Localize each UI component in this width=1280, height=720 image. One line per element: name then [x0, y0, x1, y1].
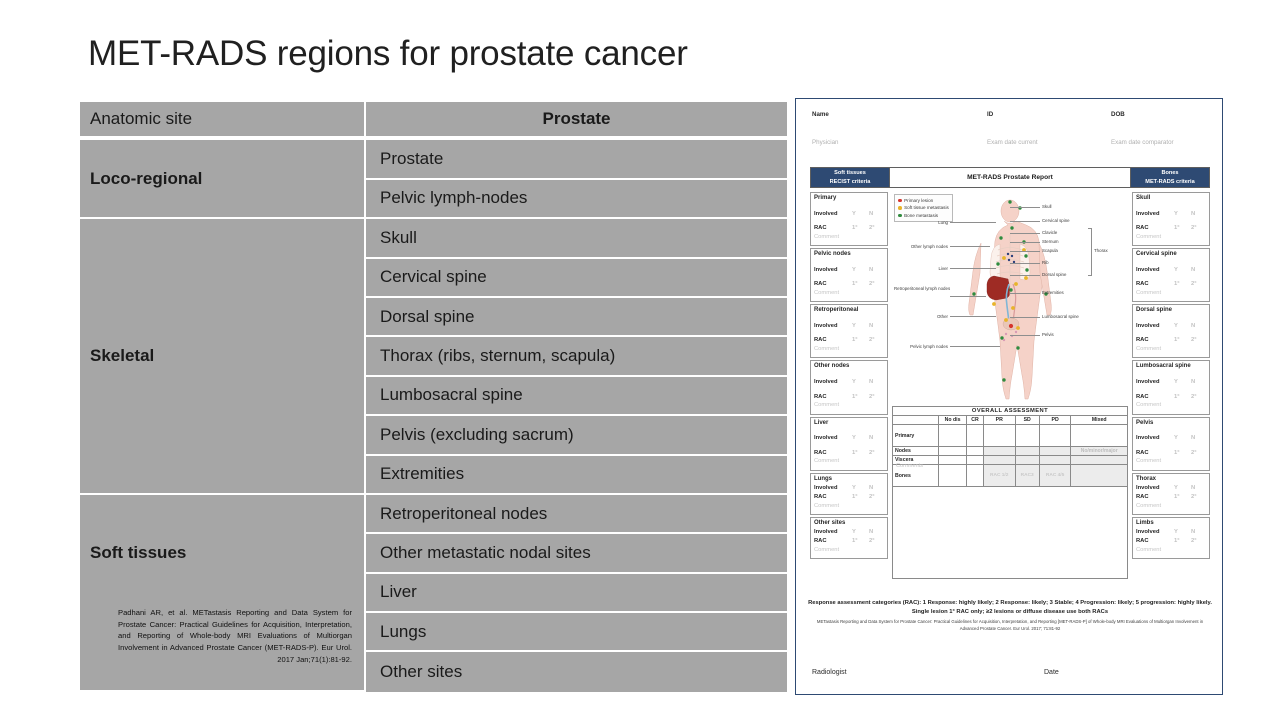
rac-label: RAC	[1136, 393, 1174, 402]
rac-primary-option[interactable]: 1°	[1174, 224, 1191, 233]
legend-item: Bone metastasis	[898, 212, 949, 219]
rac-secondary-option[interactable]: 2°	[869, 336, 875, 345]
report-banner: Soft tissues RECIST criteria MET-RADS Pr…	[810, 167, 1210, 188]
banner-title: MET-RADS Prostate Report	[889, 168, 1131, 187]
leader-line	[950, 296, 986, 297]
met-rads-prostate-report-form[interactable]: Name ID DOB Physician Exam date current …	[795, 98, 1223, 695]
legend-item: Soft tissue metastasis	[898, 204, 949, 211]
rac-label: RAC	[814, 537, 852, 546]
rac-secondary-option[interactable]: 2°	[869, 224, 875, 233]
site-cell: Other metastatic nodal sites	[366, 534, 787, 573]
involved-row[interactable]: InvolvedYN	[1136, 484, 1206, 493]
organ-block-pelvic-nodes[interactable]: Pelvic nodesInvolvedYNRAC1°2°Comment	[810, 248, 888, 302]
rac-secondary-option[interactable]: 2°	[1191, 336, 1197, 345]
organ-block-other-sites[interactable]: Other sitesInvolvedYNRAC1°2°Comment	[810, 517, 888, 559]
involved-yes-option[interactable]: Y	[1174, 210, 1191, 219]
site-cell: Pelvic lymph-nodes	[366, 180, 787, 219]
organ-comment-field[interactable]: Comment	[814, 502, 884, 511]
leader-line	[1010, 335, 1040, 336]
cell-primary-sd[interactable]	[1015, 425, 1039, 447]
figure-label-clavicle: Clavicle	[1042, 230, 1057, 235]
rac-label: RAC	[814, 493, 852, 502]
cell-primary-mixed[interactable]	[1071, 425, 1128, 447]
legend-dot-icon	[898, 199, 902, 203]
rac-primary-option[interactable]: 1°	[1174, 280, 1191, 289]
involved-row[interactable]: InvolvedYN	[814, 528, 884, 537]
figure-label-pelvic-lymph-nodes: Pelvic lymph nodes	[894, 344, 948, 349]
assessment-col-no-dis: No dis	[939, 416, 967, 425]
organ-block-primary[interactable]: PrimaryInvolvedYNRAC1°2°Comment	[810, 192, 888, 246]
radiologist-field-label[interactable]: Radiologist	[812, 669, 1044, 676]
organ-block-title: Cervical spine	[1136, 251, 1206, 259]
involved-yes-option[interactable]: Y	[852, 210, 869, 219]
assessment-row-nodes: Nodes	[893, 447, 939, 456]
organ-block-title: Liver	[814, 420, 884, 428]
rac-definition-text: Response assessment categories (RAC): 1 …	[808, 599, 1212, 616]
table-row: SkeletalSkull	[80, 219, 787, 258]
involved-label: Involved	[1136, 210, 1174, 219]
involved-row[interactable]: InvolvedYN	[1136, 528, 1206, 537]
rac-secondary-option[interactable]: 2°	[869, 280, 875, 289]
banner-bones-line1: Bones	[1161, 169, 1178, 177]
organ-comment-field[interactable]: Comment	[1136, 289, 1206, 298]
involved-no-option[interactable]: N	[1191, 210, 1195, 219]
leader-line	[1010, 263, 1040, 264]
organ-block-thorax[interactable]: ThoraxInvolvedYNRAC1°2°Comment	[1132, 473, 1210, 515]
organ-block-title: Pelvic nodes	[814, 251, 884, 259]
dob-field-label[interactable]: DOB	[1111, 111, 1206, 118]
site-cell: Extremities	[366, 456, 787, 495]
site-cell: Retroperitoneal nodes	[366, 495, 787, 534]
rac-primary-option[interactable]: 1°	[852, 336, 869, 345]
rac-label: RAC	[814, 449, 852, 458]
organ-block-title: Limbs	[1136, 520, 1206, 528]
rac-label: RAC	[1136, 449, 1174, 458]
bone-blocks-column: SkullInvolvedYNRAC1°2°CommentCervical sp…	[1132, 192, 1210, 561]
cell-primary-pr[interactable]	[983, 425, 1015, 447]
involved-row[interactable]: InvolvedYN	[1136, 322, 1206, 331]
cell-nodes-pd[interactable]	[1039, 447, 1071, 456]
involved-yes-option[interactable]: Y	[852, 378, 869, 387]
rac-row[interactable]: RAC1°2°	[1136, 537, 1206, 546]
group-cell-loco-regional: Loco-regional	[80, 140, 366, 219]
rac-label: RAC	[814, 280, 852, 289]
rac-row[interactable]: RAC1°2°	[1136, 493, 1206, 502]
rac-label: RAC	[1136, 224, 1174, 233]
involved-yes-option[interactable]: Y	[852, 322, 869, 331]
table-header-prostate: Prostate	[366, 102, 787, 140]
figure-label-retroperitoneal-lymph-nodes: Retroperitoneal lymph nodes	[894, 286, 948, 291]
rac-label: RAC	[814, 224, 852, 233]
involved-no-option[interactable]: N	[869, 378, 873, 387]
organ-block-title: Other sites	[814, 520, 884, 528]
legend-item: Primary lesion	[898, 197, 949, 204]
rac-primary-option[interactable]: 1°	[1174, 537, 1191, 546]
involved-label: Involved	[814, 484, 852, 493]
organ-block-title: Skull	[1136, 195, 1206, 203]
rac-secondary-option[interactable]: 2°	[1191, 493, 1197, 502]
organ-comment-field[interactable]: Comment	[814, 457, 884, 466]
involved-label: Involved	[1136, 378, 1174, 387]
cell-nodes-nodis[interactable]	[939, 447, 967, 456]
anatomy-diagram: Primary lesionSoft tissue metastasisBone…	[892, 192, 1128, 404]
involved-row[interactable]: InvolvedYN	[1136, 266, 1206, 275]
site-cell: Dorsal spine	[366, 298, 787, 337]
organ-block-other-nodes[interactable]: Other nodesInvolvedYNRAC1°2°Comment	[810, 360, 888, 414]
rac-row[interactable]: RAC1°2°	[1136, 449, 1206, 458]
involved-label: Involved	[1136, 322, 1174, 331]
figure-label-dorsal-spine: Dorsal spine	[1042, 272, 1066, 277]
rac-row[interactable]: RAC1°2°	[814, 537, 884, 546]
group-cell-soft-tissues: Soft tissuesPadhani AR, et al. METastasi…	[80, 495, 366, 692]
leader-line	[1010, 233, 1040, 234]
organ-block-title: Thorax	[1136, 476, 1206, 484]
organ-block-skull[interactable]: SkullInvolvedYNRAC1°2°Comment	[1132, 192, 1210, 246]
organ-block-lungs[interactable]: LungsInvolvedYNRAC1°2°Comment	[810, 473, 888, 515]
banner-bones: Bones MET-RADS criteria	[1131, 168, 1209, 187]
involved-row[interactable]: InvolvedYN	[1136, 378, 1206, 387]
involved-yes-option[interactable]: Y	[852, 528, 869, 537]
rac-row[interactable]: RAC1°2°	[814, 393, 884, 402]
involved-no-option[interactable]: N	[869, 528, 873, 537]
exam-date-comparator-label[interactable]: Exam date comparator	[1111, 139, 1206, 146]
site-cell: Thorax (ribs, sternum, scapula)	[366, 337, 787, 376]
leader-line	[950, 268, 996, 269]
leader-line	[950, 222, 996, 223]
thorax-bracket	[1088, 228, 1092, 276]
organ-comment-field[interactable]: Comment	[1136, 401, 1206, 410]
assessment-col-cr: CR	[967, 416, 984, 425]
rac-row[interactable]: RAC1°2°	[1136, 224, 1206, 233]
assessment-col-pr: PR	[983, 416, 1015, 425]
organ-comment-field[interactable]: Comment	[814, 546, 884, 555]
rac-row[interactable]: RAC1°2°	[814, 280, 884, 289]
reference-text: METastasis Reporting and Data System for…	[808, 619, 1212, 632]
rac-secondary-option[interactable]: 2°	[869, 449, 875, 458]
site-cell: Pelvis (excluding sacrum)	[366, 416, 787, 455]
rac-secondary-option[interactable]: 2°	[1191, 280, 1197, 289]
assessment-corner	[893, 416, 939, 425]
cell-nodes-mixed[interactable]: No/minor/major	[1071, 447, 1128, 456]
patient-info-row-primary: Name ID DOB	[796, 111, 1222, 118]
organ-block-lumbosacral-spine[interactable]: Lumbosacral spineInvolvedYNRAC1°2°Commen…	[1132, 360, 1210, 414]
site-cell: Liver	[366, 574, 787, 613]
rac-label: RAC	[1136, 336, 1174, 345]
site-cell: Prostate	[366, 140, 787, 179]
organ-block-limbs[interactable]: LimbsInvolvedYNRAC1°2°Comment	[1132, 517, 1210, 559]
page-title: MET-RADS regions for prostate cancer	[88, 34, 688, 74]
signature-row: Radiologist Date	[812, 669, 1208, 676]
assessment-col-pd: PD	[1039, 416, 1071, 425]
rac-row[interactable]: RAC1°2°	[814, 224, 884, 233]
rac-primary-option[interactable]: 1°	[852, 224, 869, 233]
rac-secondary-option[interactable]: 2°	[1191, 537, 1197, 546]
involved-label: Involved	[1136, 528, 1174, 537]
involved-label: Involved	[1136, 434, 1174, 443]
assessment-col-mixed: Mixed	[1071, 416, 1128, 425]
human-body-illustration	[954, 198, 1066, 402]
cell-primary-nodis[interactable]	[939, 425, 967, 447]
involved-yes-option[interactable]: Y	[1174, 266, 1191, 275]
citation-text: Padhani AR, et al. METastasis Reporting …	[90, 607, 354, 666]
organ-block-pelvis[interactable]: PelvisInvolvedYNRAC1°2°Comment	[1132, 417, 1210, 471]
anatomic-site-table: Anatomic siteProstateLoco-regionalProsta…	[80, 102, 787, 692]
rac-secondary-option[interactable]: 2°	[869, 493, 875, 502]
diagram-legend: Primary lesionSoft tissue metastasisBone…	[894, 194, 953, 222]
involved-label: Involved	[814, 378, 852, 387]
figure-label-cervical-spine: Cervical spine	[1042, 218, 1070, 223]
comments-field[interactable]: Comments	[892, 461, 1128, 579]
involved-no-option[interactable]: N	[869, 210, 873, 219]
leader-line	[1010, 242, 1040, 243]
site-cell: Cervical spine	[366, 259, 787, 298]
involved-no-option[interactable]: N	[1191, 322, 1195, 331]
organ-block-liver[interactable]: LiverInvolvedYNRAC1°2°Comment	[810, 417, 888, 471]
figure-label-pelvis: Pelvis	[1042, 332, 1054, 337]
rac-secondary-option[interactable]: 2°	[869, 393, 875, 402]
involved-label: Involved	[814, 434, 852, 443]
involved-no-option[interactable]: N	[869, 266, 873, 275]
leader-line	[1010, 207, 1040, 208]
leader-line	[950, 346, 1000, 347]
organ-block-title: Retroperitoneal	[814, 307, 884, 315]
figure-label-lung: Lung	[894, 220, 948, 225]
involved-row[interactable]: InvolvedYN	[814, 378, 884, 387]
organ-block-cervical-spine[interactable]: Cervical spineInvolvedYNRAC1°2°Comment	[1132, 248, 1210, 302]
organ-block-title: Pelvis	[1136, 420, 1206, 428]
soft-tissue-blocks-column: PrimaryInvolvedYNRAC1°2°CommentPelvic no…	[810, 192, 888, 561]
figure-label-thorax: Thorax	[1094, 248, 1108, 253]
involved-label: Involved	[814, 210, 852, 219]
leader-line	[950, 316, 996, 317]
organ-block-title: Dorsal spine	[1136, 307, 1206, 315]
involved-row[interactable]: InvolvedYN	[1136, 434, 1206, 443]
involved-yes-option[interactable]: Y	[852, 434, 869, 443]
legend-dot-icon	[898, 206, 902, 210]
rac-label: RAC	[814, 393, 852, 402]
cell-primary-cr[interactable]	[967, 425, 984, 447]
involved-label: Involved	[814, 528, 852, 537]
rac-label: RAC	[1136, 493, 1174, 502]
figure-label-other: Other	[894, 314, 948, 319]
rac-primary-option[interactable]: 1°	[1174, 393, 1191, 402]
organ-comment-field[interactable]: Comment	[1136, 233, 1206, 242]
organ-comment-field[interactable]: Comment	[1136, 546, 1206, 555]
group-label: Soft tissues	[90, 543, 354, 563]
rac-row[interactable]: RAC1°2°	[1136, 280, 1206, 289]
involved-no-option[interactable]: N	[1191, 484, 1195, 493]
rac-primary-option[interactable]: 1°	[852, 280, 869, 289]
rac-secondary-option[interactable]: 2°	[1191, 393, 1197, 402]
cell-nodes-sd[interactable]	[1015, 447, 1039, 456]
organ-comment-field[interactable]: Comment	[1136, 345, 1206, 354]
site-cell: Lungs	[366, 613, 787, 652]
figure-label-liver: Liver	[894, 266, 948, 271]
assessment-col-sd: SD	[1015, 416, 1039, 425]
id-field-label[interactable]: ID	[987, 111, 1111, 118]
banner-soft-tissues-line1: Soft tissues	[834, 169, 866, 177]
involved-no-option[interactable]: N	[1191, 434, 1195, 443]
rac-primary-option[interactable]: 1°	[1174, 493, 1191, 502]
leader-line	[1010, 293, 1040, 294]
involved-label: Involved	[814, 266, 852, 275]
physician-field-label[interactable]: Physician	[812, 139, 987, 146]
organ-block-dorsal-spine[interactable]: Dorsal spineInvolvedYNRAC1°2°Comment	[1132, 304, 1210, 358]
rac-primary-option[interactable]: 1°	[1174, 336, 1191, 345]
involved-no-option[interactable]: N	[1191, 266, 1195, 275]
involved-no-option[interactable]: N	[869, 484, 873, 493]
rac-label: RAC	[814, 336, 852, 345]
rac-row[interactable]: RAC1°2°	[814, 336, 884, 345]
legend-label: Primary lesion	[904, 197, 933, 204]
table-row: Soft tissuesPadhani AR, et al. METastasi…	[80, 495, 787, 534]
leader-line	[1010, 221, 1040, 222]
group-label: Loco-regional	[90, 169, 354, 189]
involved-yes-option[interactable]: Y	[852, 266, 869, 275]
involved-label: Involved	[1136, 484, 1174, 493]
rac-secondary-option[interactable]: 2°	[1191, 449, 1197, 458]
rac-primary-option[interactable]: 1°	[852, 493, 869, 502]
involved-no-option[interactable]: N	[869, 434, 873, 443]
involved-no-option[interactable]: N	[869, 322, 873, 331]
involved-row[interactable]: InvolvedYN	[814, 322, 884, 331]
organ-block-title: Other nodes	[814, 363, 884, 371]
rac-secondary-option[interactable]: 2°	[869, 537, 875, 546]
involved-yes-option[interactable]: Y	[1174, 434, 1191, 443]
organ-block-title: Lumbosacral spine	[1136, 363, 1206, 371]
site-cell: Lumbosacral spine	[366, 377, 787, 416]
involved-row[interactable]: InvolvedYN	[814, 210, 884, 219]
legend-dot-icon	[898, 214, 902, 218]
exam-date-current-label[interactable]: Exam date current	[987, 139, 1111, 146]
figure-label-lumbosacral-spine: Lumbosacral spine	[1042, 314, 1079, 319]
figure-label-scapula: Scapula	[1042, 248, 1058, 253]
leader-line	[1010, 317, 1040, 318]
legend-label: Soft tissue metastasis	[904, 204, 949, 211]
rac-row[interactable]: RAC1°2°	[1136, 336, 1206, 345]
figure-label-sternum: Sternum	[1042, 239, 1059, 244]
cell-nodes-cr[interactable]	[967, 447, 984, 456]
figure-label-skull: Skull	[1042, 204, 1052, 209]
organ-block-title: Lungs	[814, 476, 884, 484]
involved-row[interactable]: InvolvedYN	[814, 266, 884, 275]
rac-primary-option[interactable]: 1°	[1174, 449, 1191, 458]
group-label: Skeletal	[90, 346, 354, 366]
name-field-label[interactable]: Name	[812, 111, 987, 118]
cell-primary-pd[interactable]	[1039, 425, 1071, 447]
rac-row[interactable]: RAC1°2°	[814, 493, 884, 502]
assessment-row-primary: Primary	[893, 425, 939, 447]
involved-yes-option[interactable]: Y	[852, 484, 869, 493]
rac-label: RAC	[1136, 537, 1174, 546]
figure-label-rib: Rib	[1042, 260, 1049, 265]
organ-comment-field[interactable]: Comment	[814, 289, 884, 298]
involved-no-option[interactable]: N	[1191, 378, 1195, 387]
date-field-label[interactable]: Date	[1044, 669, 1059, 676]
rac-primary-option[interactable]: 1°	[852, 537, 869, 546]
involved-row[interactable]: InvolvedYN	[814, 434, 884, 443]
site-cell: Other sites	[366, 652, 787, 692]
leader-line	[1010, 275, 1040, 276]
organ-comment-field[interactable]: Comment	[814, 345, 884, 354]
rac-secondary-option[interactable]: 2°	[1191, 224, 1197, 233]
organ-comment-field[interactable]: Comment	[1136, 502, 1206, 511]
legend-label: Bone metastasis	[904, 212, 938, 219]
involved-no-option[interactable]: N	[1191, 528, 1195, 537]
group-cell-skeletal: Skeletal	[80, 219, 366, 495]
involved-row[interactable]: InvolvedYN	[814, 484, 884, 493]
involved-label: Involved	[814, 322, 852, 331]
leader-line	[1010, 251, 1040, 252]
banner-soft-tissues: Soft tissues RECIST criteria	[811, 168, 889, 187]
organ-comment-field[interactable]: Comment	[814, 401, 884, 410]
involved-row[interactable]: InvolvedYN	[1136, 210, 1206, 219]
cell-nodes-pr[interactable]	[983, 447, 1015, 456]
table-header-anatomic-site: Anatomic site	[80, 102, 366, 140]
leader-line	[950, 246, 990, 247]
figure-label-other-lymph-nodes: Other lymph nodes	[894, 244, 948, 249]
assessment-title: OVERALL ASSESSMENT	[893, 407, 1128, 416]
organ-block-retroperitoneal[interactable]: RetroperitonealInvolvedYNRAC1°2°Comment	[810, 304, 888, 358]
banner-soft-tissues-line2: RECIST criteria	[830, 178, 871, 186]
rac-primary-option[interactable]: 1°	[852, 449, 869, 458]
site-cell: Skull	[366, 219, 787, 258]
involved-yes-option[interactable]: Y	[1174, 484, 1191, 493]
patient-info-row-secondary: Physician Exam date current Exam date co…	[796, 139, 1222, 146]
involved-label: Involved	[1136, 266, 1174, 275]
organ-block-title: Primary	[814, 195, 884, 203]
table-row: Loco-regionalProstate	[80, 140, 787, 179]
figure-label-extremities: Extremities	[1042, 290, 1064, 295]
organ-comment-field[interactable]: Comment	[814, 233, 884, 242]
involved-yes-option[interactable]: Y	[1174, 528, 1191, 537]
report-footer-notes: Response assessment categories (RAC): 1 …	[808, 599, 1212, 633]
rac-primary-option[interactable]: 1°	[852, 393, 869, 402]
rac-label: RAC	[1136, 280, 1174, 289]
banner-bones-line2: MET-RADS criteria	[1145, 178, 1194, 186]
organ-comment-field[interactable]: Comment	[1136, 457, 1206, 466]
involved-yes-option[interactable]: Y	[1174, 322, 1191, 331]
rac-row[interactable]: RAC1°2°	[1136, 393, 1206, 402]
rac-row[interactable]: RAC1°2°	[814, 449, 884, 458]
involved-yes-option[interactable]: Y	[1174, 378, 1191, 387]
